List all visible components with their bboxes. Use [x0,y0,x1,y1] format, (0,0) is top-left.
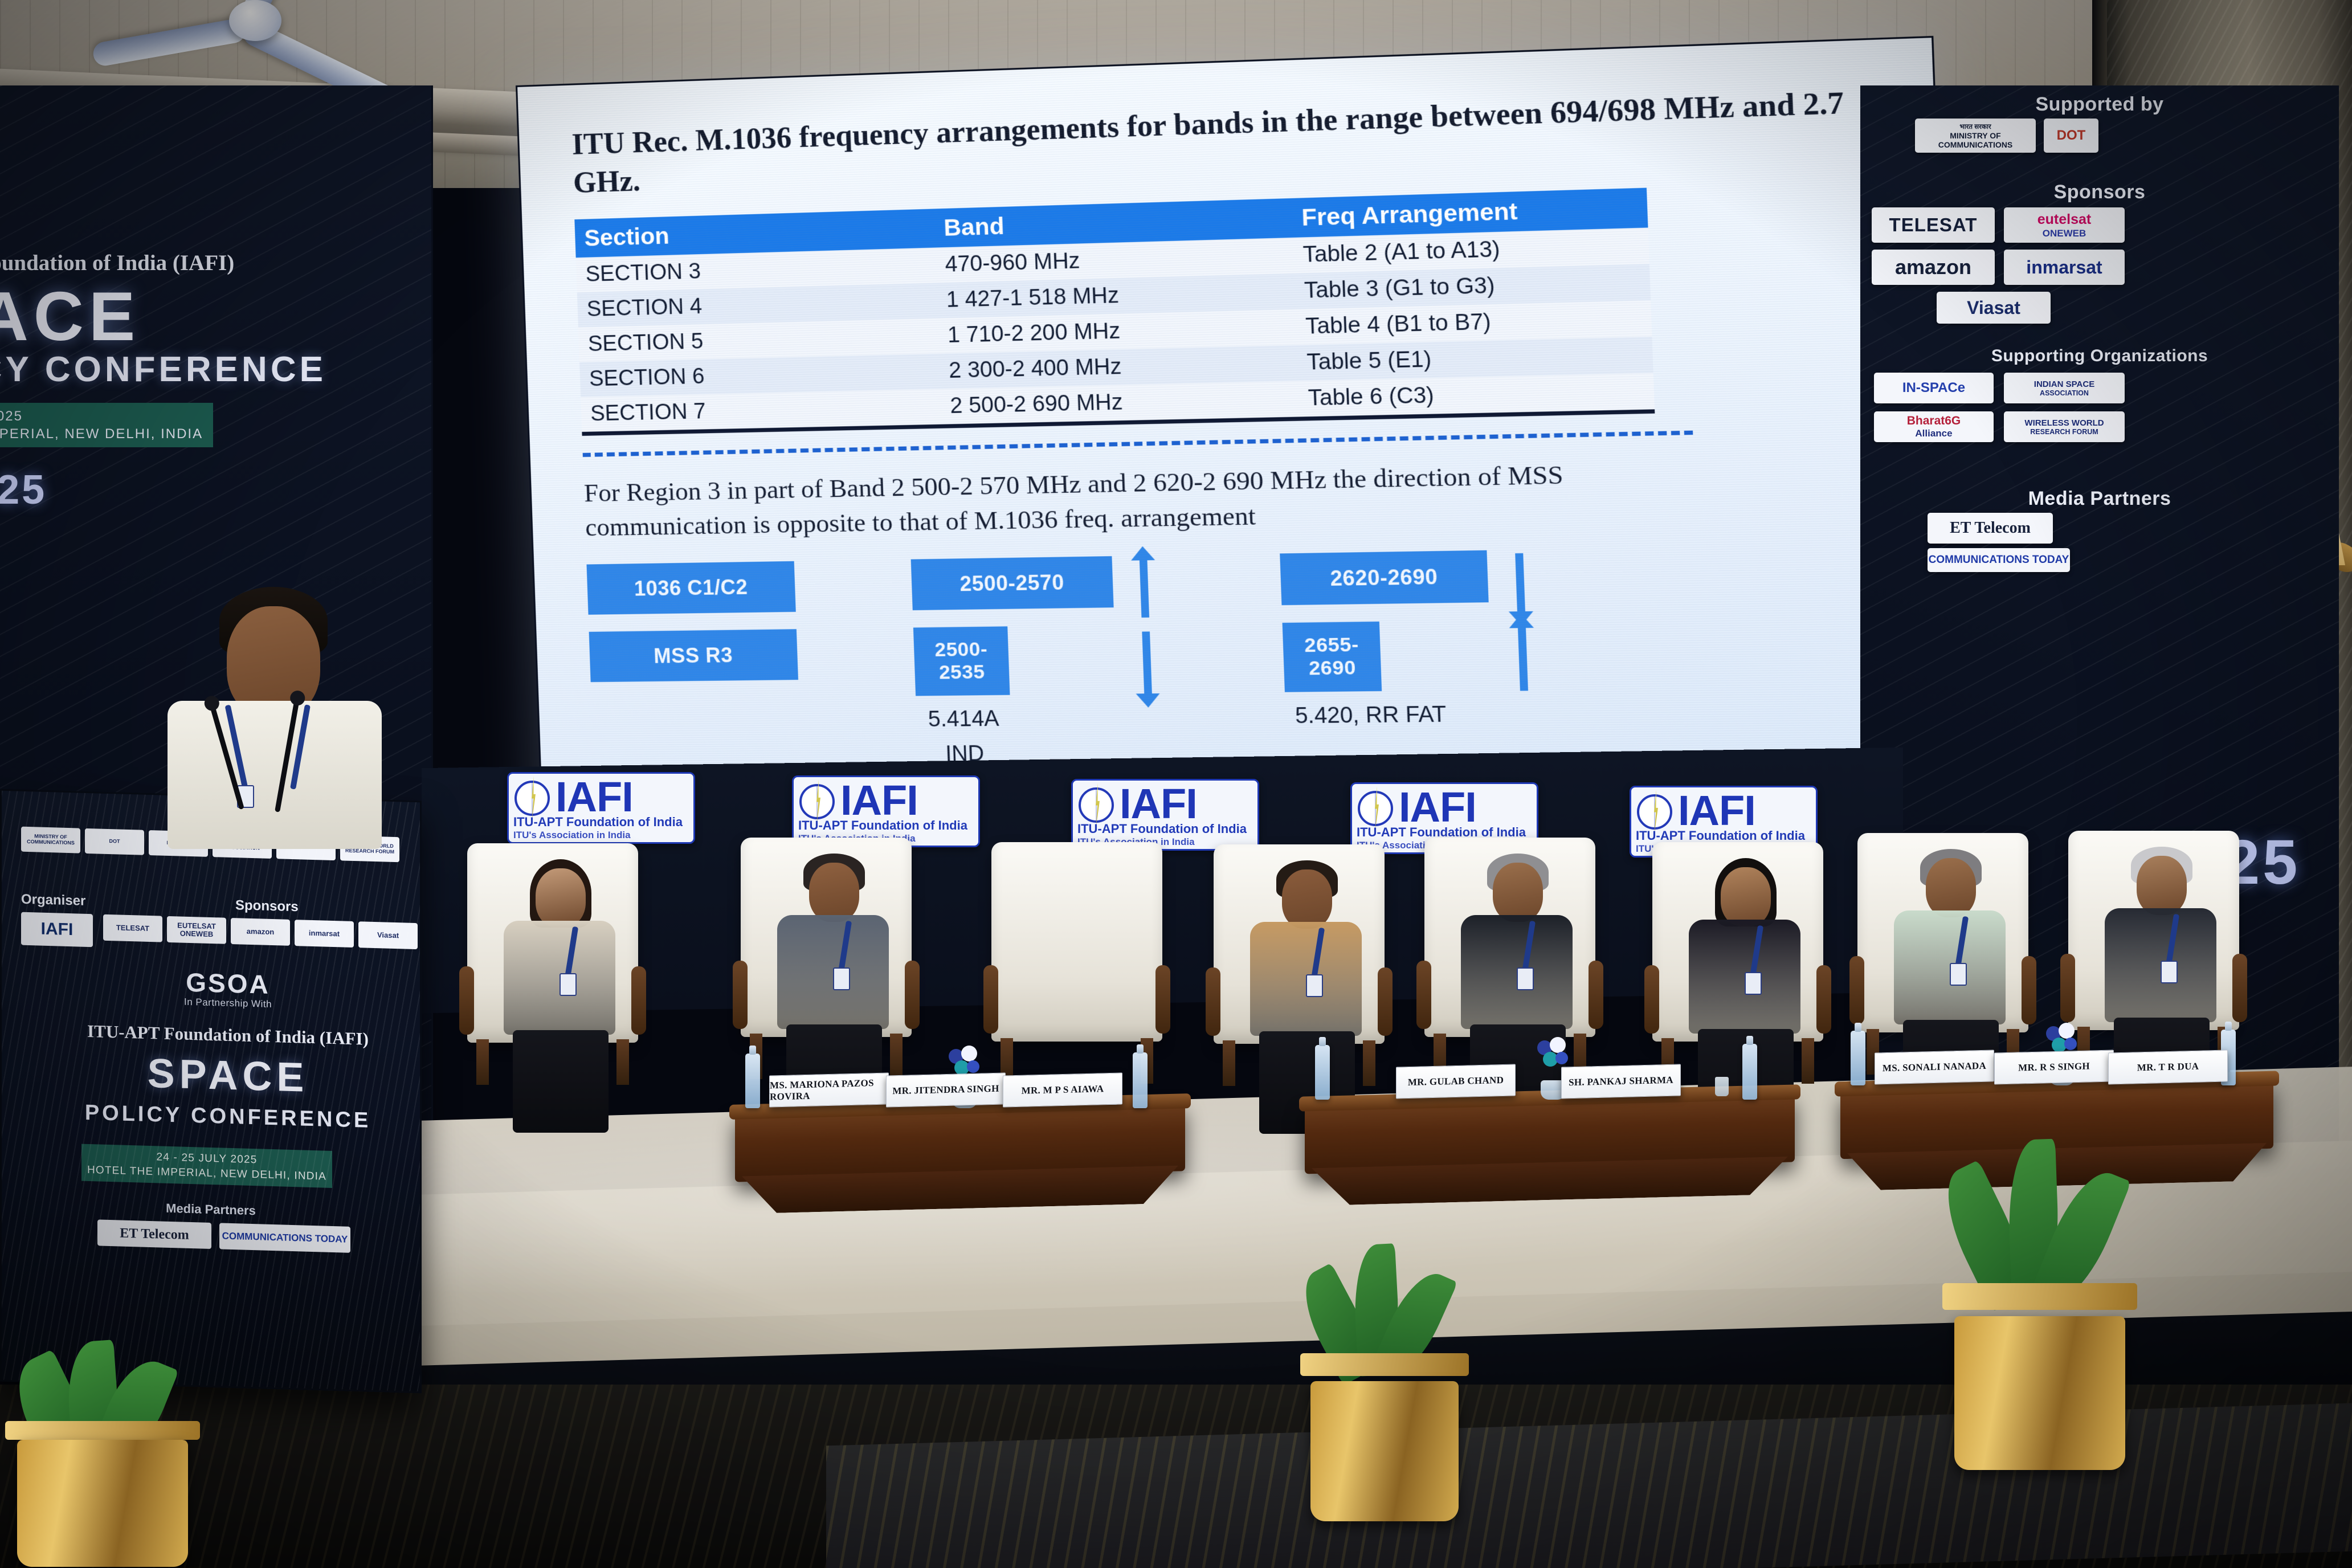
panelist-nameplate: SH. PANKAJ SHARMA [1561,1064,1681,1099]
cell-section: SECTION 7 [581,389,941,434]
logo-sub: भारत सरकार [1959,122,1991,131]
region-3-note: For Region 3 in part of Band 2 500-2 570… [583,456,1659,545]
podium-logo-communications-today: COMMUNICATIONS TODAY [219,1223,350,1252]
iafi-stage-banner: IAFIITU-APT Foundation of IndiaITU's Ass… [507,772,695,844]
logo-et-telecom: ET Telecom [1928,513,2053,544]
panelist [771,854,891,1099]
water-bottle [1133,1052,1148,1108]
coffee-table [1840,1080,2273,1159]
projected-slide: ITU Rec. M.1036 frequency arrangements f… [516,36,1962,821]
arrow-up-right [1518,627,1528,691]
policy-conference-wordmark: POLICY CONFERENCE [0,351,148,388]
drinking-glass [1715,1077,1729,1096]
podium-sponsor-logo: TELESAT [103,914,162,942]
logo-viasat: Viasat [1937,292,2051,324]
logo-name: MINISTRY OF COMMUNICATIONS [1915,131,2036,149]
diagram-box-2655-2690: 2655- 2690 [1283,622,1382,692]
diagram-box-2620-2690: 2620-2690 [1280,550,1489,605]
iafi-banner-line1: ITU-APT Foundation of India [1636,828,1805,843]
gsoa-partnership-text: In Partnership With [0,214,148,227]
table-body: SECTION 3470-960 MHzTable 2 (A1 to A13)S… [576,228,1655,434]
coffee-table [735,1102,1185,1182]
cell-freq-arrangement: Table 6 (C3) [1298,373,1655,419]
podium-iafi-line: ITU-APT Foundation of India (IAFI) [19,1019,437,1052]
diagram-box-2500-2570: 2500-2570 [911,556,1114,610]
logo-communications-today: COMMUNICATIONS TODAY [1928,548,2070,572]
panelist-badge [1950,963,1967,986]
podium-sponsor-logo: Viasat [358,921,418,949]
podium-space-wordmark: SPACE [19,1047,437,1105]
space-wordmark: SPACE [0,281,148,351]
diagram-label-mssr3: MSS R3 [589,629,798,682]
water-bottle [1742,1044,1757,1100]
media-partners-heading: Media Partners [1860,488,2339,510]
logo-sub: ASSOCIATION [2040,389,2089,397]
podium-supported-logo: MINISTRY OF COMMUNICATIONS [21,827,80,854]
lectern-panel-artwork: Supported by MINISTRY OF COMMUNICATIONSD… [2,791,420,1392]
panelist-nameplate: MR. GULAB CHAND [1396,1064,1516,1099]
logo-amazon: amazon [1872,250,1995,285]
podium-date-venue-band: 24 - 25 JULY 2025 HOTEL THE IMPERIAL, NE… [81,1144,332,1189]
panelist-nameplate: MS. SONALI NANADA [1875,1050,1994,1084]
panelist-chair [991,842,1162,1042]
podium-sponsors-label: Sponsors [235,897,299,915]
slide-content: ITU Rec. M.1036 frequency arrangements f… [517,38,1960,819]
caption-5420-RR-FAT: 5.420, RR FAT [1243,699,1499,732]
podium-gsoa-sub: In Partnership With [19,992,437,1015]
podium-logo-iafi: IAFI [21,912,93,948]
water-bottle [1315,1045,1330,1100]
iafi-logo-text: IAFI [840,779,918,822]
lectern-podium: Supported by MINISTRY OF COMMUNICATIONSD… [0,789,422,1394]
logo-name: INDIAN SPACE [2034,379,2094,389]
logo-sub: ONEWEB [2043,228,2086,239]
cell-band: 2 500-2 690 MHz [940,381,1299,427]
podium-sponsor-logo: EUTELSAT ONEWEB [167,916,226,944]
caption-5414A: 5.414A [887,704,1041,735]
iafi-banner-line1: ITU-APT Foundation of India [1077,822,1247,836]
foreground-plant-right [1954,1174,2125,1470]
logo-in-space: IN-SPACe [1874,373,1994,403]
podium-venue: HOTEL THE IMPERIAL, NEW DELHI, INDIA [84,1162,330,1184]
panelist-nameplate: MS. MARIONA PAZOS ROVIRA [769,1072,889,1107]
iafi-stage-banner: IAFIITU-APT Foundation of IndiaITU's Ass… [1071,779,1259,851]
ceiling-fan-left [108,0,427,91]
arrow-up-left [1140,559,1149,618]
panelist-nameplate: MR. JITENDRA SINGH [886,1072,1006,1107]
iafi-banner-line1: ITU-APT Foundation of India [798,818,967,833]
arrow-down-left [1142,631,1152,695]
logo-bharat6g-alliance: Bharat6G Alliance [1874,411,1994,442]
foreground-plant-left [17,1362,188,1567]
speaker-at-podium [154,587,393,826]
logo-sub: Alliance [1915,428,1952,439]
conference-venue: HOTEL THE IMPERIAL, NEW DELHI, INDIA [0,425,203,443]
logo-dot: DOT [2044,119,2098,153]
logo-name: Bharat6G [1907,414,1961,428]
diagram-box-2500-2535: 2500- 2535 [913,626,1010,696]
podium-logo-et-telecom: ET Telecom [97,1219,211,1249]
frequency-arrangement-table: Section Band Freq Arrangement SECTION 34… [574,188,1655,436]
podium-media-partners-label: Media Partners [2,1197,420,1223]
logo-sub: RESEARCH FORUM [2030,428,2098,436]
podium-supported-logo: DOT [85,828,144,855]
panelist-badge [833,967,850,990]
coffee-table [1305,1093,1795,1174]
water-bottle [745,1053,760,1108]
arrow-down-right [1515,553,1525,612]
podium-sponsor-logo: amazon [231,918,290,946]
iafi-logo-text: IAFI [1678,790,1755,832]
diagram-label-1036: 1036 C1/C2 [586,561,795,615]
supporting-organizations-heading: Supporting Organizations [1860,346,2339,366]
panelist-badge [1517,967,1534,990]
date-venue-band: 24 - 25 JULY 2025 HOTEL THE IMPERIAL, NE… [0,403,213,447]
foreground-plant-center [1310,1271,1459,1521]
podium-dates: 24 - 25 JULY 2025 [84,1148,330,1170]
iafi-foundation-line: ITU-APT Foundation of India (IAFI) [0,250,148,276]
dashed-separator [583,431,1693,457]
iafi-banner-line2: ITU's Association in India [513,830,631,841]
panelist [1244,860,1364,1105]
panelist-nameplate: MR. T R DUA [2108,1050,2228,1084]
podium-organiser-label: Organiser [21,892,85,909]
conference-photo-scene: GSOA In Partnership With ITU-APT Foundat… [0,0,2352,1568]
panelist-badge [1306,974,1323,997]
podium-gsoa-logo: GSOA [19,962,437,1005]
projection-screen: ITU Rec. M.1036 frequency arrangements f… [516,36,1962,821]
panelist-badge [2161,961,2178,983]
panelist-nameplate: MR. R S SINGH [1994,1050,2114,1084]
panelist-badge [560,973,577,996]
panelist-nameplate: MR. M P S AIAWA [1003,1072,1122,1107]
logo-name: eutelsat [2037,211,2091,228]
conference-hashtag: #SPC25 [0,467,148,513]
gsoa-logo-text: GSOA [0,171,148,211]
podium-policy-wordmark: POLICY CONFERENCE [19,1099,437,1136]
iafi-logo-text: IAFI [1399,786,1476,828]
logo-ministry-of-communications: भारत सरकार MINISTRY OF COMMUNICATIONS [1915,119,2036,153]
left-backdrop-artwork: GSOA In Partnership With ITU-APT Foundat… [0,171,148,513]
iafi-banner-line1: ITU-APT Foundation of India [513,815,683,830]
sponsors-heading: Sponsors [1860,181,2339,203]
supported-by-heading: Supported by [1860,93,2339,116]
conference-dates: 24 - 25 JULY 2025 [0,407,203,425]
logo-eutelsat-oneweb: eutelsat ONEWEB [2004,207,2125,243]
slide-title: ITU Rec. M.1036 frequency arrangements f… [571,83,1878,202]
panelist-badge [1745,972,1762,995]
logo-telesat: TELESAT [1872,207,1995,243]
logo-inmarsat: inmarsat [2004,250,2125,285]
panelist [498,859,618,1104]
iafi-logo-text: IAFI [556,776,633,818]
iafi-logo-text: IAFI [1120,783,1197,825]
logo-wireless-world-research-forum: WIRELESS WORLD RESEARCH FORUM [2004,411,2125,442]
band-direction-diagram: 1036 C1/C2 MSS R3 2500-2570 2500- 2535 2… [586,544,1897,707]
logo-indian-space-association: INDIAN SPACE ASSOCIATION [2004,373,2125,403]
water-bottle [1851,1031,1865,1085]
podium-sponsor-logo: inmarsat [295,920,354,948]
iafi-stage-banner: IAFIITU-APT Foundation of IndiaITU's Ass… [792,775,980,847]
logo-name: WIRELESS WORLD [2024,418,2104,428]
